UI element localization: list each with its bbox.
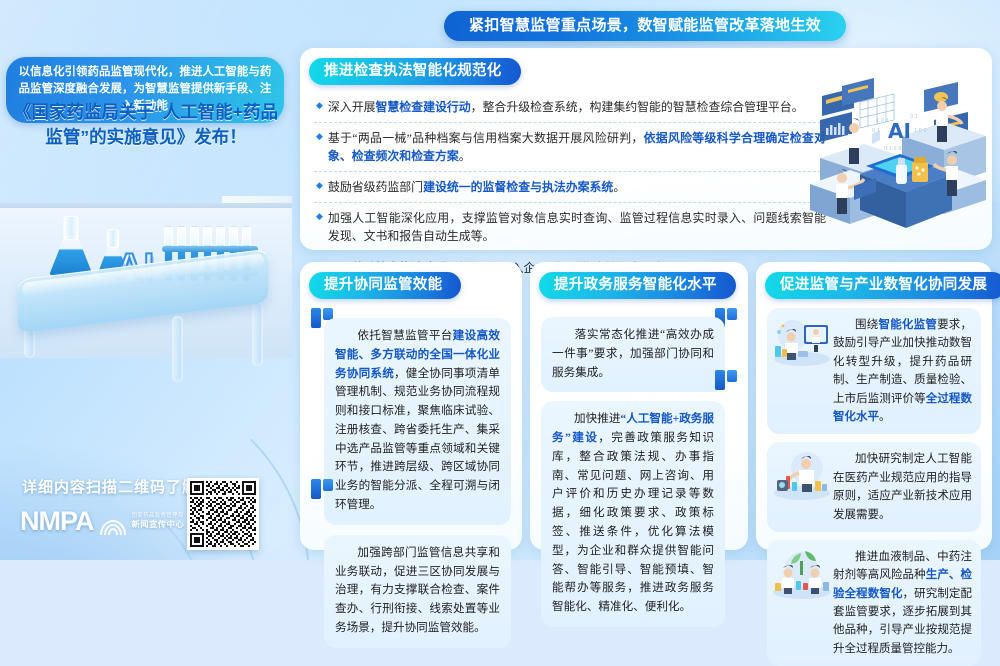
- bullet-text: 基于“两品一械”品种档案与信用档案大数据开展风险研判，依据风险等级科学合理确定检…: [328, 129, 826, 165]
- body-text: 加快研究制定人工智能在医药产业规范应用的指导原则，适应产业新技术应用发展需要。: [833, 453, 972, 520]
- diamond-bullet-icon: ◆: [316, 129, 323, 165]
- bullet-list: ◆深入开展智慧检查建设行动，整合升级检查系统，构建集约智能的智慧检查综合管理平台…: [314, 92, 826, 283]
- card-inspection-enforcement: 推进检查执法智能化规范化 ◆深入开展智慧检查建设行动，整合升级检查系统，构建集约…: [300, 48, 992, 250]
- highlighted-phrase: 建设统一的监督检查与执法办案系统: [423, 180, 613, 194]
- svg-text:0 1: 0 1: [910, 114, 918, 120]
- note-list-a: 依托智慧监管平台建设高效智能、多方联动的全国一体化业务协同系统，健全协同事项清单…: [311, 308, 511, 540]
- section-banner: 紧扣智慧监管重点场景，数智赋能监管改革落地生效: [444, 11, 846, 41]
- svg-text:1 0 0: 1 0 0: [914, 128, 927, 134]
- bullet-text: 深入开展智慧检查建设行动，整合升级检查系统，构建集约智能的智慧检查综合管理平台。: [328, 98, 826, 116]
- info-row: 围绕智能化监管要求，鼓励引导产业加快推动数智化转型升级，提升药品研制、生产制造、…: [767, 308, 981, 434]
- nmpa-wordmark: NMPA: [20, 506, 94, 537]
- note-item: 加快推进“人工智能+政务服务”建设，完善政策服务知识库，整合政策法规、办事指南、…: [541, 401, 725, 627]
- card-title-inspection: 推进检查执法智能化规范化: [309, 58, 521, 85]
- body-text: 落实常态化推进“高效办成一件事”要求，加强部门协同和服务集成。: [552, 328, 714, 379]
- bullet-text: 鼓励省级药监部门建设统一的监督检查与执法办案系统。: [328, 178, 826, 196]
- diamond-bullet-icon: ◆: [316, 178, 323, 196]
- quote-mark-decoration: [311, 479, 333, 499]
- lab-consult-illustration: [771, 315, 833, 369]
- quote-mark-decoration: [715, 370, 737, 390]
- body-text: 围绕: [855, 319, 879, 331]
- body-text: ，健全协同事项清单管理机制、规范业务协同流程规则和接口标准，聚焦临床试验、注册核…: [335, 367, 500, 511]
- qr-code-image: [190, 481, 256, 547]
- qr-code[interactable]: [187, 478, 259, 550]
- nmpa-sublabel: 国家药品监督管理局 新闻宣传中心: [132, 514, 185, 530]
- diamond-bullet-icon: ◆: [316, 209, 323, 245]
- body-text: 加强人工智能深化应用，支撑监管对象信息实时查询、监管过程信息实时录入、问题线索智…: [328, 211, 826, 243]
- info-row: 加快研究制定人工智能在医药产业规范应用的指导原则，适应产业新技术应用发展需要。: [767, 442, 981, 532]
- table-leg: [172, 316, 183, 382]
- body-text: ，整合升级检查系统，构建集约智能的智慧检查综合管理平台。: [471, 100, 804, 114]
- body-text: 基于“两品一械”品种档案与信用档案大数据开展风险研判，: [328, 131, 644, 145]
- nmpa-org-name: 国家药品监督管理局: [132, 514, 185, 520]
- card-title-collaborative: 提升协同监管效能: [309, 272, 461, 299]
- nmpa-center-name: 新闻宣传中心: [132, 520, 185, 529]
- body-text: 加强跨部门监管信息共享和业务联动，促进三区协同发展与治理，有力支撑联合检查、案件…: [335, 546, 500, 634]
- bullet-text: 加强人工智能深化应用，支撑监管对象信息实时查询、监管过程信息实时录入、问题线索智…: [328, 209, 826, 245]
- svg-text:0 1 1 0: 0 1 1 0: [884, 146, 902, 152]
- table-leg: [252, 302, 263, 366]
- info-row-text: 加快研究制定人工智能在医药产业规范应用的指导原则，适应产业新技术应用发展需要。: [833, 449, 972, 524]
- body-text: ，完善政策服务知识库，整合政策法规、办事指南、常见问题、网上咨询、用户评价和历史…: [552, 431, 714, 613]
- bullet-item: ◆加强人工智能深化应用，支撑监管对象信息实时查询、监管过程信息实时录入、问题线索…: [314, 203, 826, 252]
- hero-panel: 以信息化引领药品监管现代化，推进人工智能与药品监管深度融合发展，为智慧监管提供新…: [0, 0, 292, 560]
- bullet-item: ◆深入开展智慧检查建设行动，整合升级检查系统，构建集约智能的智慧检查综合管理平台…: [314, 92, 826, 123]
- info-row-text: 围绕智能化监管要求，鼓励引导产业加快推动数智化转型升级，提升药品研制、生产制造、…: [833, 315, 972, 426]
- nmpa-arc-mark-icon: [100, 509, 126, 535]
- note-item: 依托智慧监管平台建设高效智能、多方联动的全国一体化业务协同系统，健全协同事项清单…: [324, 318, 511, 525]
- bullet-item: ◆鼓励省级药监部门建设统一的监督检查与执法办案系统。: [314, 172, 826, 203]
- info-row-text: 推进血液制品、中药注射剂等高风险品种生产、检验全程数智化，研究制定配套监管要求，…: [833, 547, 972, 658]
- body-text: 鼓励省级药监部门: [328, 180, 423, 194]
- body-text: 深入开展: [328, 100, 376, 114]
- svg-text:1 0 1: 1 0 1: [876, 118, 889, 124]
- body-text: 加快推进: [574, 412, 620, 425]
- card-title-government-service: 提升政务服务智能化水平: [539, 272, 736, 299]
- diamond-bullet-icon: ◆: [316, 98, 323, 116]
- note-item: 落实常态化推进“高效办成一件事”要求，加强部门协同和服务集成。: [541, 317, 725, 392]
- body-text: 。: [613, 180, 625, 194]
- note-list-b: 落实常态化推进“高效办成一件事”要求，加强部门协同和服务集成。 加快推进“人工智…: [541, 308, 737, 540]
- isometric-ai-supervision-illustration: AI 1 0 10 1 0 11 0 0 0 1 1 0: [802, 68, 988, 236]
- note-list-c: 围绕智能化监管要求，鼓励引导产业加快推动数智化转型升级，提升药品研制、生产制造、…: [767, 308, 981, 540]
- card-collaborative-supervision: 提升协同监管效能 依托智慧监管平台建设高效智能、多方联动的全国一体化业务协同系统…: [300, 262, 522, 550]
- body-text: 。: [459, 149, 471, 163]
- content-area: 紧扣智慧监管重点场景，数智赋能监管改革落地生效 推进检查执法智能化规范化 ◆深入…: [292, 0, 1000, 560]
- card-title-industry: 促进监管与产业数智化协同发展: [765, 272, 1000, 299]
- info-row: 推进血液制品、中药注射剂等高风险品种生产、检验全程数智化，研究制定配套监管要求，…: [767, 540, 981, 666]
- erlenmeyer-flask-icon: [48, 216, 94, 278]
- highlighted-phrase: 智慧检查建设行动: [376, 100, 471, 114]
- note-item: 加强跨部门监管信息共享和业务联动，促进三区协同发展与治理，有力支撑联合检查、案件…: [324, 535, 511, 648]
- card-government-service: 提升政务服务智能化水平 落实常态化推进“高效办成一件事”要求，加强部门协同和服务…: [530, 262, 748, 550]
- herbal-research-illustration: [771, 547, 833, 601]
- page-title: 《国家药监局关于“人工智能+药品监管”的实施意见》发布！: [8, 100, 284, 150]
- hero-illustration: AI: [4, 196, 292, 376]
- body-text: 依托智慧监管平台: [357, 329, 453, 342]
- flask-neck: [64, 216, 79, 240]
- card-industry-digital-development: 促进监管与产业数智化协同发展 围绕智能化监管要求，鼓励引导产业加快推动数智化转型…: [756, 262, 992, 550]
- bullet-item: ◆基于“两品一械”品种档案与信用档案大数据开展风险研判，依据风险等级科学合理确定…: [314, 123, 826, 172]
- svg-text:AI: AI: [888, 119, 911, 143]
- scientist-pipette-illustration: [771, 449, 833, 503]
- highlighted-phrase: 智能化监管: [879, 319, 938, 331]
- body-text: 。: [879, 411, 891, 423]
